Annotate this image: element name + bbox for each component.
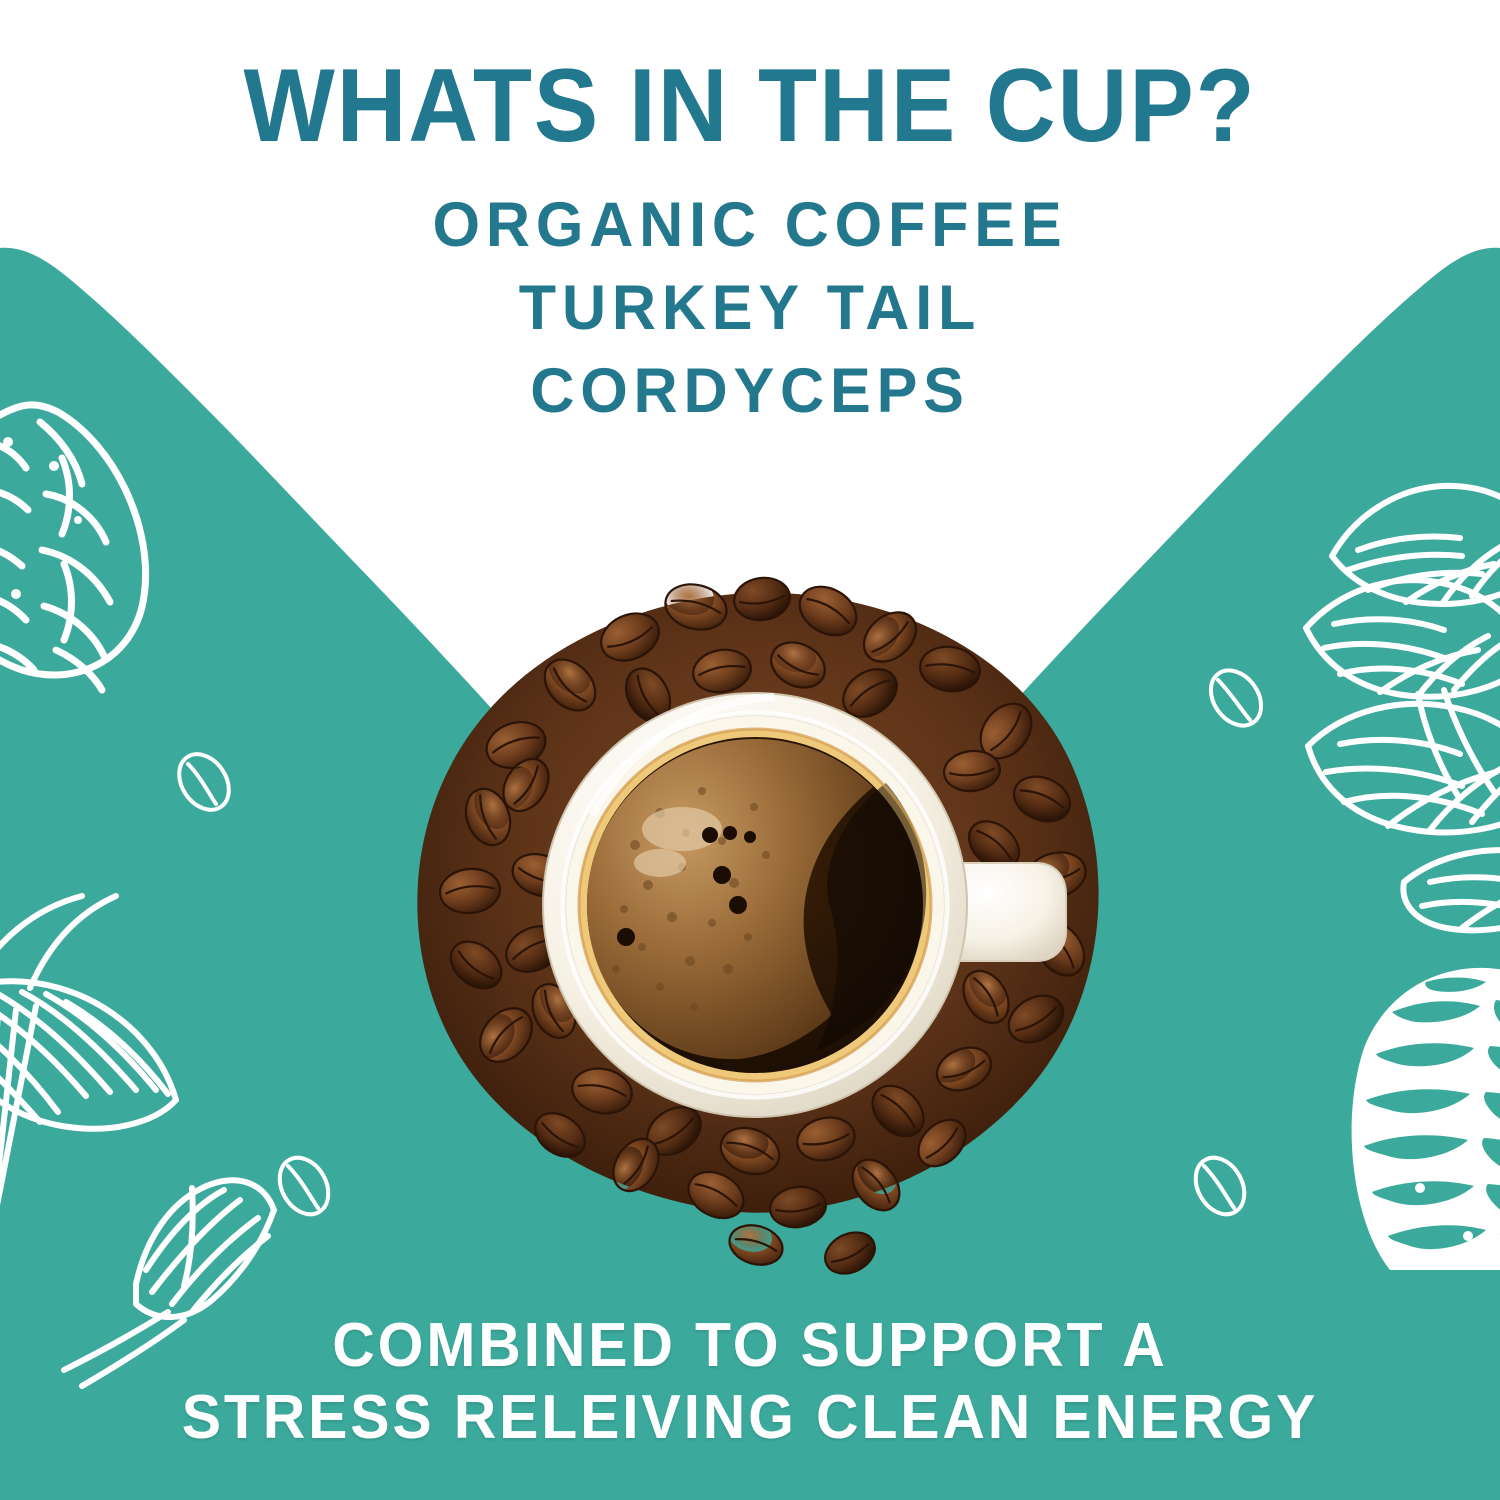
page-title: WHATS IN THE CUP? [53, 54, 1448, 158]
ingredient-item: ORGANIC COFFEE [23, 184, 1478, 267]
ingredient-item: CORDYCEPS [23, 350, 1478, 433]
coffee-cup-hero-image [330, 545, 1180, 1295]
tagline-block: COMBINED TO SUPPORT A STRESS RELEIVING C… [0, 1310, 1500, 1454]
ingredient-item: TURKEY TAIL [23, 267, 1478, 350]
headline-block: WHATS IN THE CUP? ORGANIC COFFEE TURKEY … [0, 54, 1500, 433]
poster-canvas: WHATS IN THE CUP? ORGANIC COFFEE TURKEY … [0, 0, 1500, 1500]
coffee-mug [543, 693, 967, 1117]
tagline-line-2: STRESS RELEIVING CLEAN ENERGY [38, 1382, 1463, 1454]
tagline-line-1: COMBINED TO SUPPORT A [38, 1310, 1463, 1382]
ingredient-list: ORGANIC COFFEE TURKEY TAIL CORDYCEPS [0, 184, 1500, 433]
